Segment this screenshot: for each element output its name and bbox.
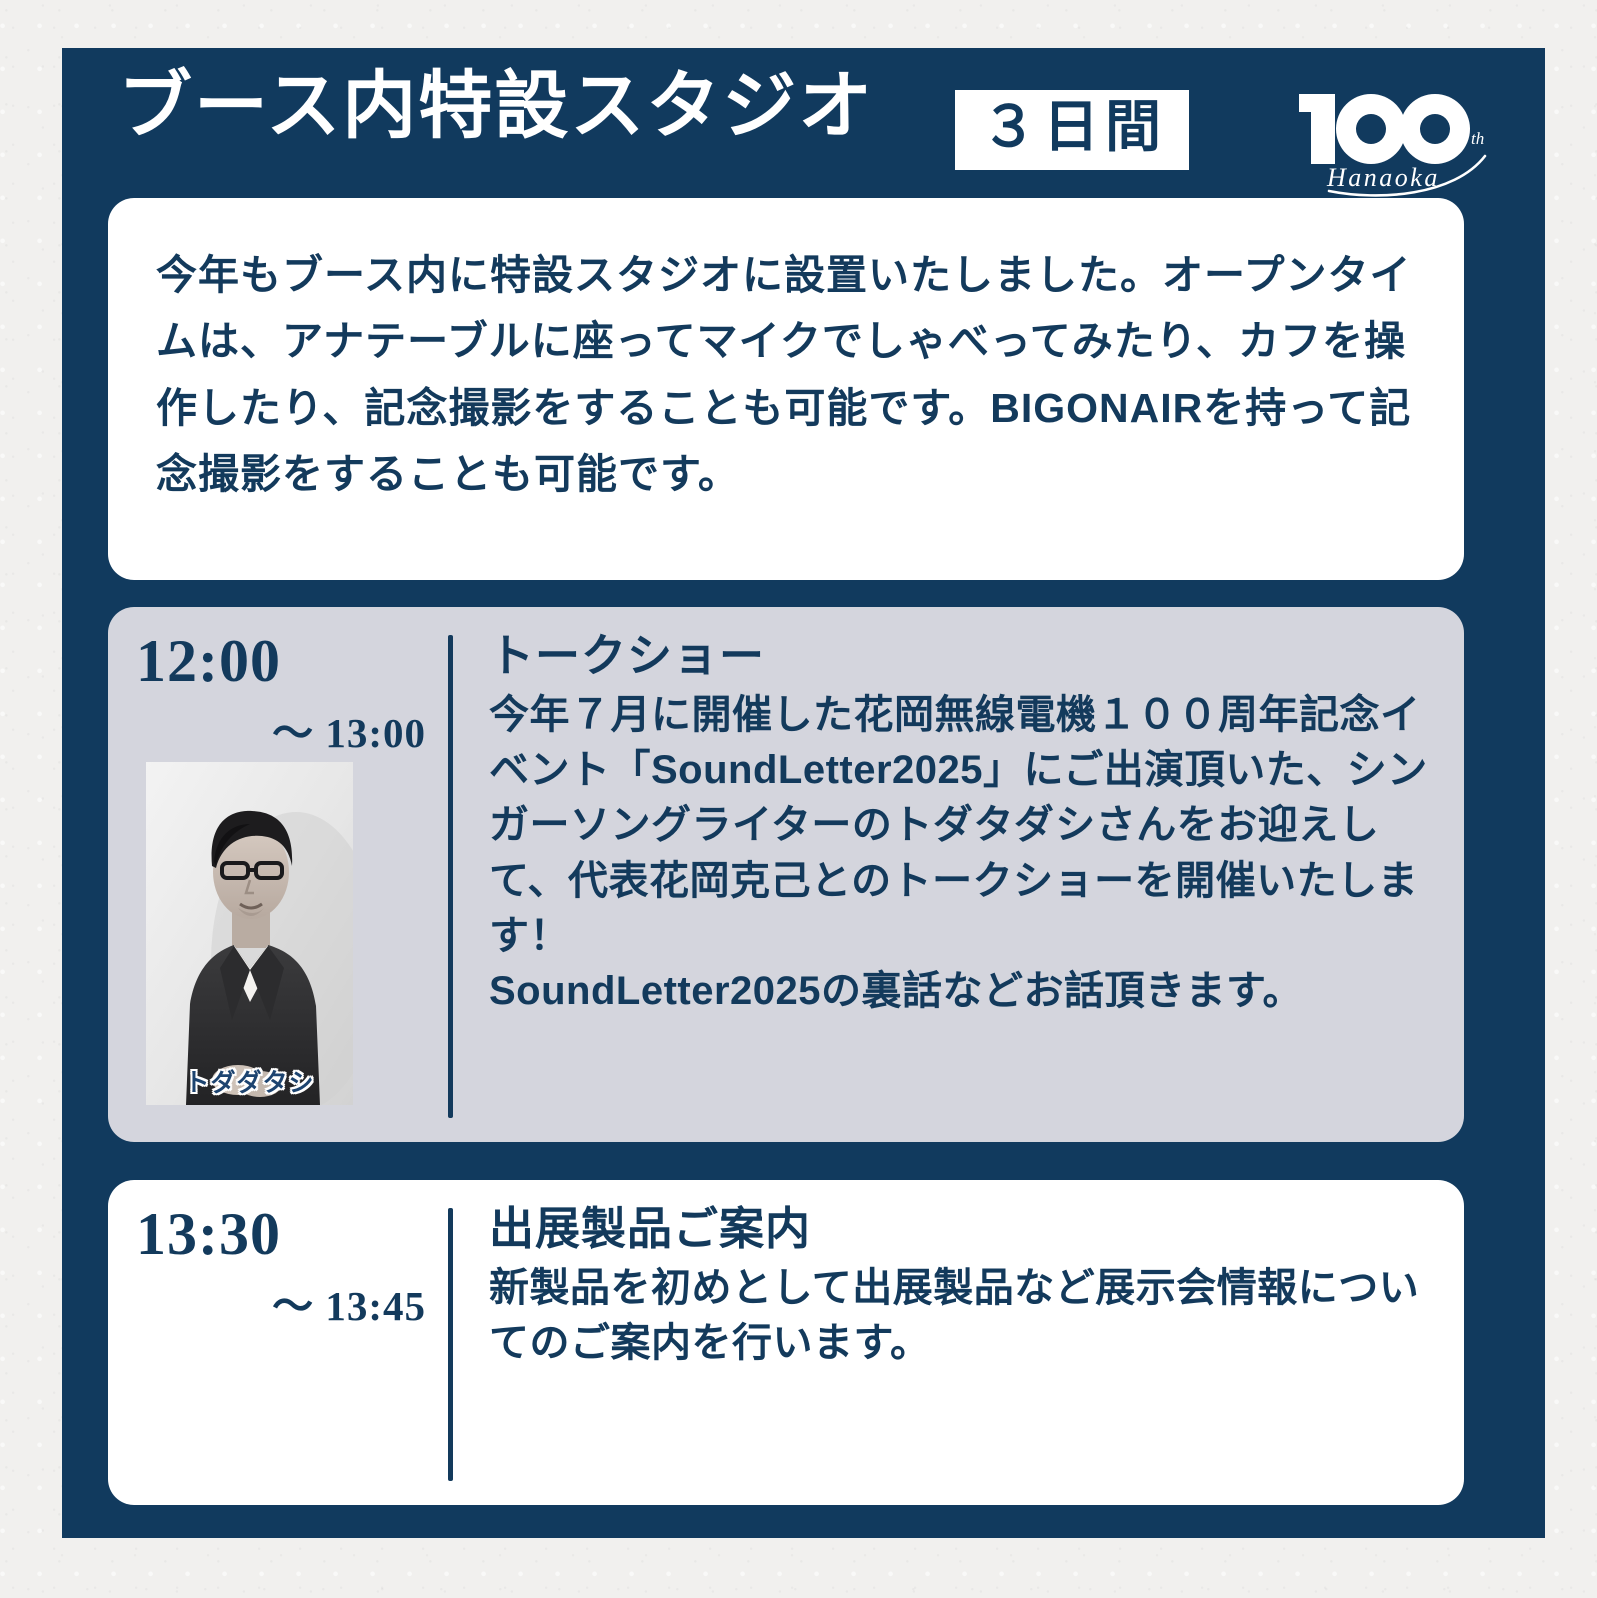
svg-text:Hanaoka: Hanaoka bbox=[1326, 163, 1440, 192]
anniversary-logo: th Hanaoka bbox=[1289, 68, 1499, 198]
time-column: 12:00 〜 13:00 bbox=[108, 607, 448, 1142]
schedule-body: トークショー 今年７月に開催した花岡無線電機１００周年記念イベント「SoundL… bbox=[453, 607, 1464, 1142]
end-time: 〜 13:45 bbox=[108, 1286, 448, 1327]
svg-text:th: th bbox=[1471, 129, 1484, 148]
intro-text: 今年もブース内に特設スタジオに設置いたしました。オープンタイムは、アナテーブルに… bbox=[156, 242, 1412, 508]
end-time: 〜 13:00 bbox=[108, 713, 448, 754]
speaker-name-caption: トダダタシ bbox=[146, 1063, 353, 1099]
event-description: 今年７月に開催した花岡無線電機１００周年記念イベント「SoundLetter20… bbox=[489, 688, 1442, 1019]
duration-badge: ３日間 bbox=[955, 90, 1189, 170]
header: ブース内特設スタジオ ３日間 th Hanaoka bbox=[62, 48, 1545, 198]
event-title: 出展製品ご案内 bbox=[489, 1202, 1442, 1255]
page-title: ブース内特設スタジオ bbox=[118, 70, 874, 144]
start-time: 13:30 bbox=[136, 1204, 448, 1264]
schedule-item-talk-show: 12:00 〜 13:00 bbox=[108, 607, 1464, 1142]
content-cards: 今年もブース内に特設スタジオに設置いたしました。オープンタイムは、アナテーブルに… bbox=[108, 198, 1464, 1505]
event-description: 新製品を初めとして出展製品など展示会情報についてのご案内を行います。 bbox=[489, 1261, 1442, 1371]
intro-card: 今年もブース内に特設スタジオに設置いたしました。オープンタイムは、アナテーブルに… bbox=[108, 198, 1464, 580]
schedule-body: 出展製品ご案内 新製品を初めとして出展製品など展示会情報についてのご案内を行いま… bbox=[453, 1180, 1464, 1505]
time-column: 13:30 〜 13:45 bbox=[108, 1180, 448, 1505]
event-title: トークショー bbox=[489, 629, 1442, 682]
start-time: 12:00 bbox=[136, 631, 448, 691]
schedule-item-product-guide: 13:30 〜 13:45 出展製品ご案内 新製品を初めとして出展製品など展示会… bbox=[108, 1180, 1464, 1505]
speaker-photo: トダダタシ bbox=[146, 762, 353, 1105]
